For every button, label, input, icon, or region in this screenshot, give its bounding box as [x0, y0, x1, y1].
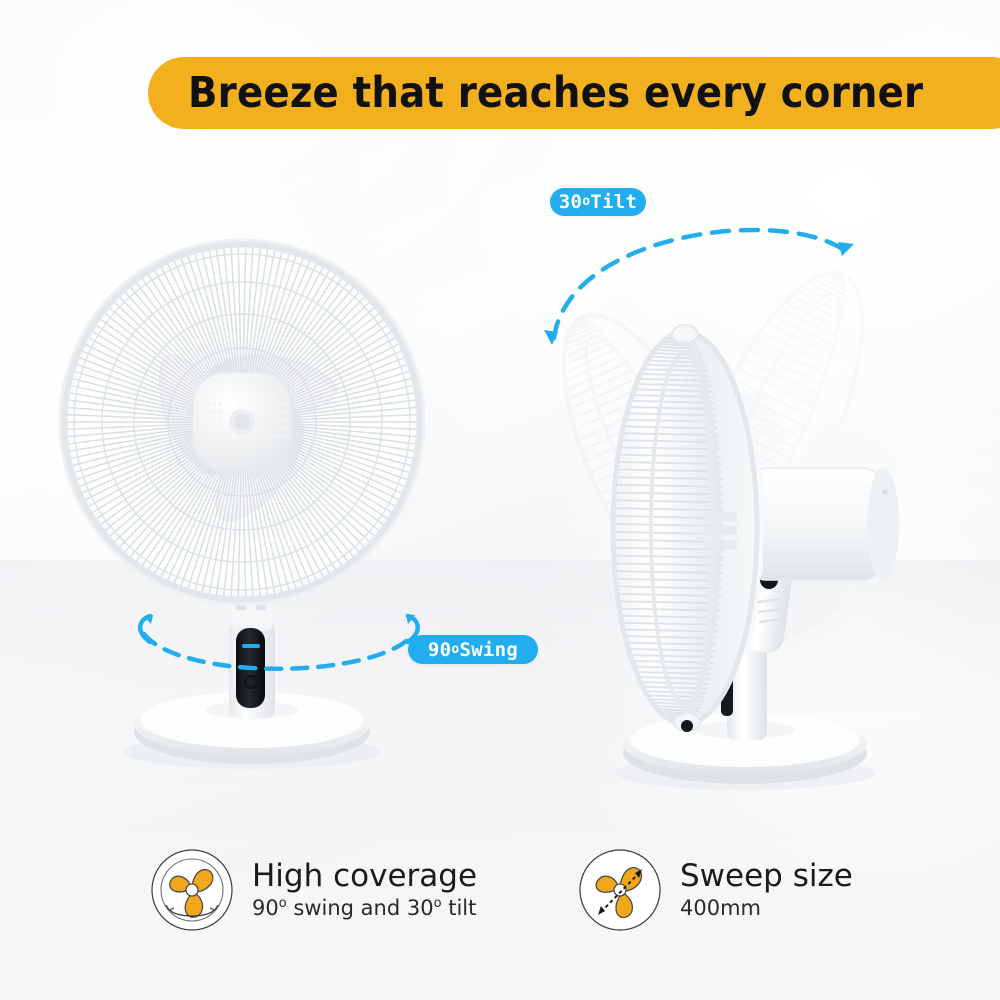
swing-degrees: 90 — [252, 896, 279, 920]
headline-banner: Breeze that reaches every corner — [148, 57, 1000, 129]
tilt-degrees: tilt — [442, 896, 477, 920]
fan-grille-side — [613, 325, 757, 732]
feature-high-coverage: High coverage 90o swing and 30o tilt — [150, 848, 477, 932]
swing-badge: 90o Swing — [408, 635, 538, 664]
tilt-badge-label: Tilt — [590, 191, 637, 213]
feature-subtitle: 400mm — [680, 896, 853, 920]
headline-text: Breeze that reaches every corner — [148, 68, 923, 118]
product-marketing-banner: Breeze that reaches every corner — [0, 0, 1000, 1000]
degree-symbol: o — [279, 896, 287, 911]
fan-front-view — [56, 232, 456, 792]
feature-subtitle: 90o swing and 30o tilt — [252, 896, 477, 920]
feature-title: High coverage — [252, 860, 477, 893]
degree-symbol: o — [434, 896, 442, 911]
tilt-badge-value: 30 — [559, 191, 582, 213]
fan-motor-housing — [741, 468, 899, 580]
tilt-arc-path — [554, 230, 844, 338]
swing-badge-value: 90 — [428, 639, 451, 661]
fan-sweep-icon — [578, 848, 662, 932]
swing-badge-label: Swing — [459, 639, 518, 661]
tilt-arc — [528, 200, 878, 350]
fan-swing-icon — [150, 848, 234, 932]
tilt-badge: 30o Tilt — [550, 188, 646, 216]
grille-latch — [681, 720, 693, 732]
fan-hub-cap — [192, 372, 292, 472]
feature-sweep-size: Sweep size 400mm — [578, 848, 853, 932]
tilt-arrow-end — [838, 242, 854, 256]
swing-arc — [120, 612, 440, 692]
swing-arc-path — [144, 634, 412, 669]
feature-title: Sweep size — [680, 860, 853, 893]
subtitle-middle: swing and 30 — [287, 896, 434, 920]
grille-inner-vents — [705, 512, 737, 549]
fan-grille — [60, 240, 424, 604]
